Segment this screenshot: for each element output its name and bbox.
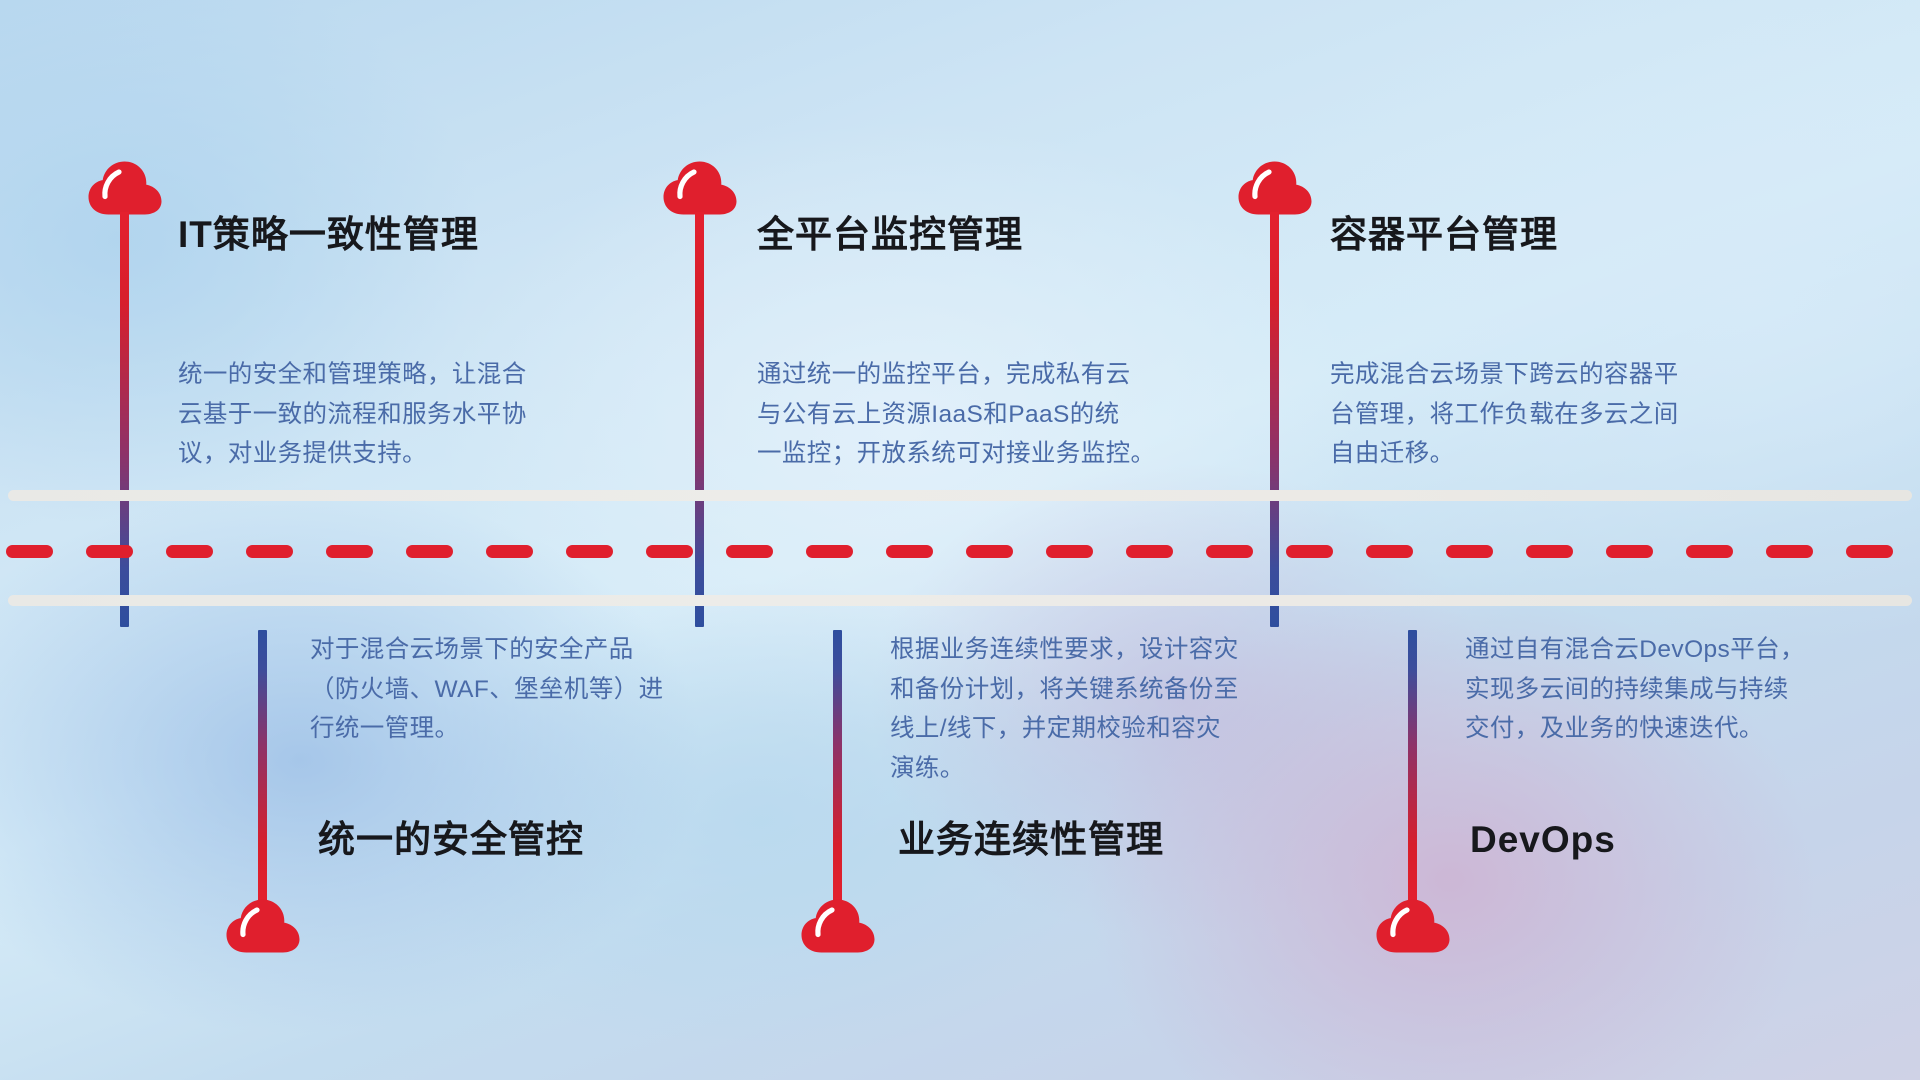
dash-segment bbox=[1766, 545, 1813, 558]
cloud-icon bbox=[224, 898, 302, 954]
dash-segment bbox=[806, 545, 853, 558]
dash-segment bbox=[1206, 545, 1253, 558]
top-item-title-2: 全平台监控管理 bbox=[757, 215, 1023, 256]
bottom-item-title-2: 业务连续性管理 bbox=[898, 820, 1164, 861]
dash-segment bbox=[1046, 545, 1093, 558]
dash-segment bbox=[886, 545, 933, 558]
pin-stem bbox=[833, 630, 842, 905]
dash-segment bbox=[1126, 545, 1173, 558]
bottom-item-body-2: 根据业务连续性要求，设计容灾 和备份计划，将关键系统备份至 线上/线下，并定期校… bbox=[890, 630, 1350, 789]
bottom-item-title-1: 统一的安全管控 bbox=[318, 820, 584, 861]
dash-segment bbox=[726, 545, 773, 558]
bottom-item-body-1: 对于混合云场景下的安全产品 （防火墙、WAF、堡垒机等）进 行统一管理。 bbox=[310, 630, 770, 749]
dash-segment bbox=[966, 545, 1013, 558]
dash-segment bbox=[326, 545, 373, 558]
cloud-icon bbox=[1374, 898, 1452, 954]
cloud-icon bbox=[799, 898, 877, 954]
top-item-title-1: IT策略一致性管理 bbox=[178, 215, 479, 256]
cloud-icon bbox=[1236, 160, 1314, 216]
pin-stem bbox=[258, 630, 267, 905]
dash-segment bbox=[6, 545, 53, 558]
divider-dashed-line bbox=[0, 545, 1920, 558]
cloud-icon bbox=[661, 160, 739, 216]
bottom-item-title-3: DevOps bbox=[1470, 820, 1616, 861]
dash-segment bbox=[406, 545, 453, 558]
bottom-item-body-3: 通过自有混合云DevOps平台， 实现多云间的持续集成与持续 交付，及业务的快速… bbox=[1465, 630, 1920, 749]
dash-segment bbox=[486, 545, 533, 558]
dash-segment bbox=[246, 545, 293, 558]
dash-segment bbox=[1606, 545, 1653, 558]
divider-line-bottom bbox=[8, 595, 1912, 606]
dash-segment bbox=[1446, 545, 1493, 558]
top-item-body-2: 通过统一的监控平台，完成私有云 与公有云上资源IaaS和PaaS的统 一监控；开… bbox=[757, 355, 1227, 474]
dash-segment bbox=[1686, 545, 1733, 558]
dash-segment bbox=[646, 545, 693, 558]
dash-segment bbox=[566, 545, 613, 558]
pin-stem bbox=[1408, 630, 1417, 905]
dash-segment bbox=[1846, 545, 1893, 558]
pin-stem bbox=[120, 212, 129, 627]
cloud-icon bbox=[86, 160, 164, 216]
pin-stem bbox=[1270, 212, 1279, 627]
dash-segment bbox=[1286, 545, 1333, 558]
top-item-body-1: 统一的安全和管理策略，让混合 云基于一致的流程和服务水平协 议，对业务提供支持。 bbox=[178, 355, 618, 474]
dash-segment bbox=[166, 545, 213, 558]
dash-segment bbox=[86, 545, 133, 558]
top-item-body-3: 完成混合云场景下跨云的容器平 台管理，将工作负载在多云之间 自由迁移。 bbox=[1330, 355, 1790, 474]
dash-segment bbox=[1366, 545, 1413, 558]
pin-stem bbox=[695, 212, 704, 627]
infographic-canvas: IT策略一致性管理 统一的安全和管理策略，让混合 云基于一致的流程和服务水平协 … bbox=[0, 0, 1920, 1080]
top-item-title-3: 容器平台管理 bbox=[1330, 215, 1558, 256]
divider-line-top bbox=[8, 490, 1912, 501]
dash-segment bbox=[1526, 545, 1573, 558]
